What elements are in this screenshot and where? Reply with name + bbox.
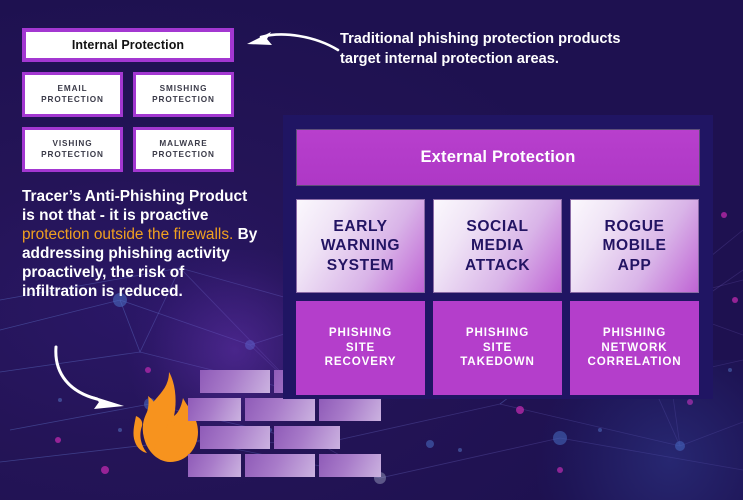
external-cell-early-warning-system[interactable]: EARLY WARNING SYSTEM — [296, 199, 425, 293]
brick — [200, 370, 270, 393]
brick-row — [188, 426, 343, 449]
brick — [200, 426, 270, 449]
external-cell-line3: RECOVERY — [325, 355, 397, 370]
external-cell-line2: SITE — [483, 341, 512, 356]
external-cell-phishing-site-takedown[interactable]: PHISHING SITE TAKEDOWN — [433, 301, 562, 395]
brick — [245, 398, 315, 421]
brick — [245, 454, 315, 477]
external-protection-heading-label: External Protection — [420, 148, 575, 167]
external-cell-line1: PHISHING — [603, 326, 666, 341]
internal-box-smishing-protection[interactable]: SMISHING PROTECTION — [133, 72, 234, 117]
external-cell-line3: ATTACK — [465, 256, 530, 276]
brick — [274, 426, 340, 449]
internal-box-line1: SMISHING — [160, 84, 208, 95]
internal-protection-box-grid: EMAIL PROTECTION SMISHING PROTECTION VIS… — [22, 72, 234, 172]
external-cell-line2: NETWORK — [601, 341, 667, 356]
internal-box-vishing-protection[interactable]: VISHING PROTECTION — [22, 127, 123, 172]
external-cell-line2: WARNING — [321, 236, 400, 256]
internal-protection-group: Internal Protection EMAIL PROTECTION SMI… — [22, 28, 234, 172]
external-cell-line3: SYSTEM — [327, 256, 394, 276]
internal-box-line2: PROTECTION — [152, 150, 215, 161]
internal-protection-heading-label: Internal Protection — [72, 38, 184, 52]
internal-protection-heading: Internal Protection — [22, 28, 234, 62]
external-cell-line1: PHISHING — [329, 326, 392, 341]
left-description-paragraph: Tracer’s Anti-Phishing Product is not th… — [22, 187, 262, 302]
internal-box-line1: EMAIL — [58, 84, 88, 95]
brick-row — [188, 398, 343, 421]
internal-box-line2: PROTECTION — [41, 95, 104, 106]
brick — [188, 398, 241, 421]
external-cell-line3: TAKEDOWN — [460, 355, 535, 370]
top-annotation-line1: Traditional phishing protection products — [340, 30, 700, 50]
brick — [319, 398, 381, 421]
external-light-cell-row: EARLY WARNING SYSTEM SOCIAL MEDIA ATTACK… — [296, 199, 699, 293]
external-cell-phishing-network-correlation[interactable]: PHISHING NETWORK CORRELATION — [570, 301, 699, 395]
external-cell-line1: PHISHING — [466, 326, 529, 341]
external-cell-line2: SITE — [346, 341, 375, 356]
external-protection-heading: External Protection — [296, 129, 700, 186]
brick-row — [188, 454, 343, 477]
internal-box-malware-protection[interactable]: MALWARE PROTECTION — [133, 127, 234, 172]
external-protection-panel: External Protection EARLY WARNING SYSTEM… — [283, 115, 713, 399]
top-annotation-text: Traditional phishing protection products… — [340, 30, 700, 70]
curved-arrow-left-icon — [245, 28, 341, 58]
external-cell-line1: SOCIAL — [466, 217, 528, 237]
left-copy-highlight: protection outside the firewalls. — [22, 226, 233, 243]
external-cell-line3: APP — [618, 256, 652, 276]
external-cell-phishing-site-recovery[interactable]: PHISHING SITE RECOVERY — [296, 301, 425, 395]
top-annotation-line2: target internal protection areas. — [340, 50, 700, 70]
brick — [188, 454, 241, 477]
internal-box-email-protection[interactable]: EMAIL PROTECTION — [22, 72, 123, 117]
external-cell-rogue-mobile-app[interactable]: ROGUE MOBILE APP — [570, 199, 699, 293]
left-copy-segment-1: Tracer’s Anti-Phishing Product is not th… — [22, 188, 247, 224]
infographic-canvas: Internal Protection EMAIL PROTECTION SMI… — [0, 0, 743, 500]
external-cell-line2: MEDIA — [471, 236, 524, 256]
external-cell-social-media-attack[interactable]: SOCIAL MEDIA ATTACK — [433, 199, 562, 293]
external-cell-line2: MOBILE — [603, 236, 667, 256]
brick — [319, 454, 381, 477]
internal-box-line2: PROTECTION — [41, 150, 104, 161]
external-cell-line1: EARLY — [333, 217, 387, 237]
internal-box-line1: MALWARE — [159, 139, 207, 150]
internal-box-line1: VISHING — [53, 139, 93, 150]
external-cell-line1: ROGUE — [605, 217, 665, 237]
external-cell-line3: CORRELATION — [587, 355, 681, 370]
internal-box-line2: PROTECTION — [152, 95, 215, 106]
external-solid-cell-row: PHISHING SITE RECOVERY PHISHING SITE TAK… — [296, 301, 699, 395]
